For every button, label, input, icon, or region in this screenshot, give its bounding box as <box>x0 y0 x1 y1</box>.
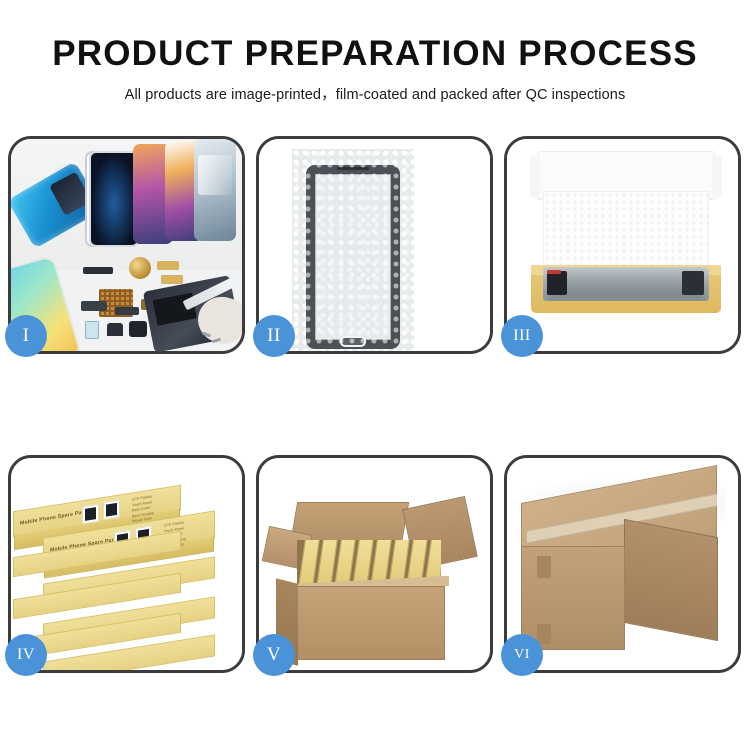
part-flex-cable-2-icon <box>161 275 183 284</box>
components-scene <box>11 139 242 351</box>
step-badge-1: I <box>5 315 47 357</box>
step-4-image: Mobile Phone Spare Parts LCD DisplayTouc… <box>11 458 242 670</box>
stacked-boxes-scene: Mobile Phone Spare Parts LCD DisplayTouc… <box>11 458 242 670</box>
retail-box-window-a1 <box>82 504 99 525</box>
step-badge-3: III <box>501 315 543 357</box>
speaker-coil-icon <box>129 257 151 279</box>
carton-packing-scene <box>259 458 490 670</box>
step-badge-6: VI <box>501 634 543 676</box>
part-glass-lens-icon <box>85 321 99 339</box>
inner-box-scene <box>507 139 738 351</box>
bubble-wrap-scene <box>259 139 490 351</box>
step-card-4[interactable]: Mobile Phone Spare Parts LCD DisplayTouc… <box>8 455 245 673</box>
screws-icon <box>202 331 228 347</box>
carton-tab-top-icon <box>537 556 551 578</box>
step-badge-2: II <box>253 315 295 357</box>
step-card-3[interactable]: III <box>504 136 741 354</box>
part-button-icon <box>107 323 123 336</box>
part-flex-cable-icon <box>157 261 179 270</box>
screen-label-icon <box>547 270 561 274</box>
step-badge-5: V <box>253 634 295 676</box>
packed-screen-icon <box>543 267 709 301</box>
step-card-2[interactable]: II <box>256 136 493 354</box>
phone-black-display-icon <box>89 151 139 247</box>
retail-box-window-a2 <box>103 499 120 520</box>
carton-body-icon <box>293 586 445 660</box>
phone-silver-display-icon <box>194 139 236 241</box>
header: PRODUCT PREPARATION PROCESS All products… <box>0 0 750 104</box>
carton-right-face-icon <box>624 519 718 641</box>
page-title: PRODUCT PREPARATION PROCESS <box>0 36 750 73</box>
part-antenna-icon <box>115 307 139 315</box>
foam-liner-icon <box>543 191 709 269</box>
step-2-image <box>259 139 490 351</box>
step-3-image <box>507 139 738 351</box>
step-5-image <box>259 458 490 670</box>
sealed-carton-scene <box>507 458 738 670</box>
step-1-image <box>11 139 242 351</box>
part-bracket-icon <box>81 301 107 311</box>
part-strip-icon <box>83 267 113 274</box>
steps-grid: I II <box>8 136 742 673</box>
step-card-5[interactable]: V <box>256 455 493 673</box>
part-camera-module-icon <box>129 321 147 337</box>
carton-tab-bottom-icon <box>537 624 551 644</box>
step-6-image <box>507 458 738 670</box>
step-card-6[interactable]: VI <box>504 455 741 673</box>
page-subtitle: All products are image-printed，film-coat… <box>0 83 750 104</box>
step-card-1[interactable]: I <box>8 136 245 354</box>
product-preparation-infographic: PRODUCT PREPARATION PROCESS All products… <box>0 0 750 750</box>
phone-glass-panel-icon <box>306 165 400 349</box>
step-badge-4: IV <box>5 634 47 676</box>
bubble-wrap-sheet-icon <box>292 149 414 351</box>
